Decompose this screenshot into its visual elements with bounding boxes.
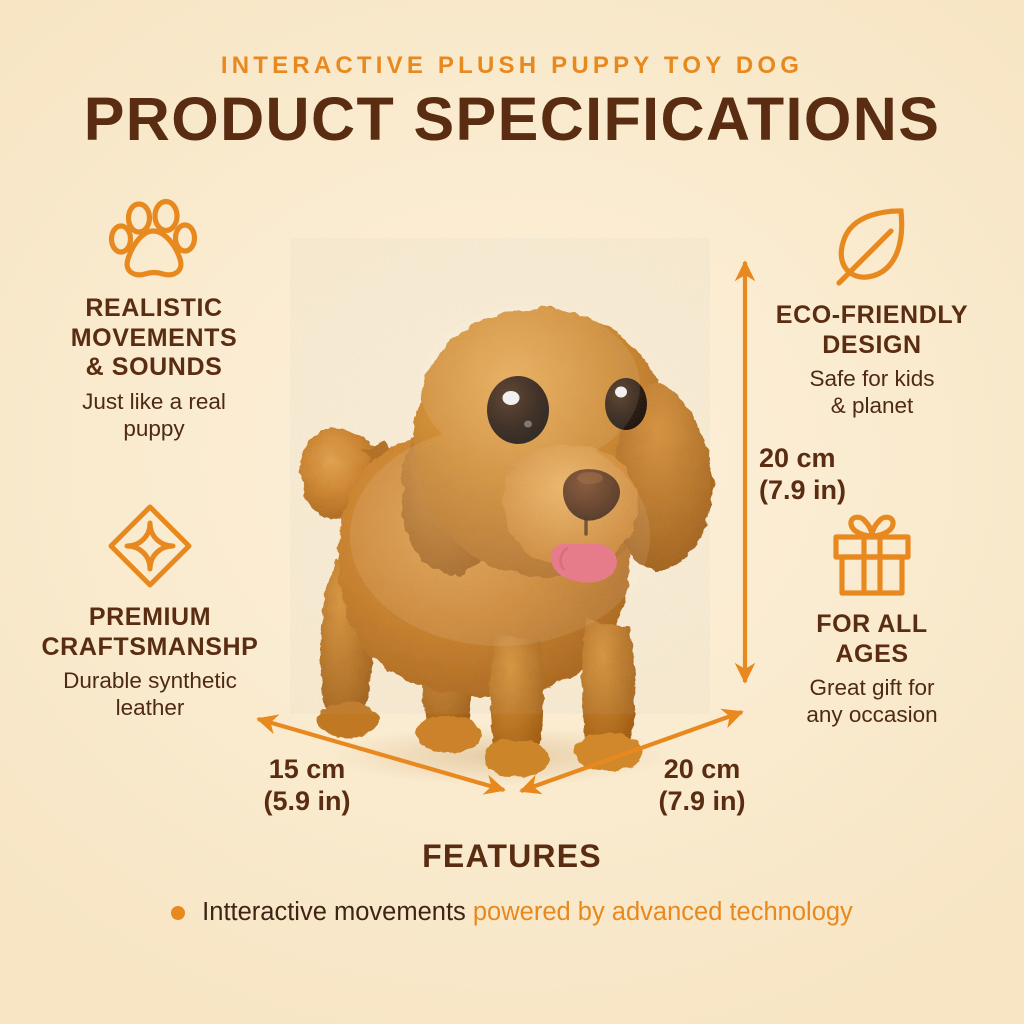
feature-title: FOR ALL AGES <box>727 610 1017 669</box>
feature-title: REALISTIC MOVEMENTS & SOUNDS <box>9 294 299 383</box>
feature-for-all-ages[interactable]: FOR ALL AGES Great gift for any occasion <box>727 512 1017 729</box>
feature-subtitle: Safe for kids & planet <box>727 365 1017 420</box>
height-dimension-label: 20 cm (7.9 in) <box>759 442 846 507</box>
page-title: PRODUCT SPECIFICATIONS <box>0 87 1024 153</box>
bullet-highlight-text: powered by advanced technology <box>473 898 853 926</box>
product-image-puppy <box>268 236 748 806</box>
feature-title: PREMIUM CRAFTSMANSHP <box>5 603 295 662</box>
feature-subtitle: Just like a real puppy <box>9 388 299 443</box>
feature-eco-friendly-design[interactable]: ECO-FRIENDLY DESIGN Safe for kids & plan… <box>727 203 1017 420</box>
width-dimension-label: 15 cm (5.9 in) <box>232 753 382 818</box>
eyebrow-subtitle: INTERACTIVE PLUSH PUPPY TOY DOG <box>0 52 1024 80</box>
gift-box-icon <box>727 512 1017 596</box>
feature-bullet-row: Intteractive movements powered by advanc… <box>0 898 1024 927</box>
paw-print-icon <box>9 196 299 280</box>
diamond-star-icon <box>5 505 295 589</box>
feature-subtitle: Durable synthetic leather <box>5 667 295 722</box>
features-heading: FEATURES <box>0 838 1024 875</box>
feature-title: ECO-FRIENDLY DESIGN <box>727 301 1017 360</box>
feature-premium-craftsmanship[interactable]: PREMIUM CRAFTSMANSHP Durable synthetic l… <box>5 505 295 722</box>
depth-dimension-label: 20 cm (7.9 in) <box>627 753 777 818</box>
bullet-plain-text: Intteractive movements <box>202 898 466 926</box>
bullet-dot-icon <box>171 906 185 920</box>
feature-subtitle: Great gift for any occasion <box>727 674 1017 729</box>
feature-realistic-movements[interactable]: REALISTIC MOVEMENTS & SOUNDS Just like a… <box>9 196 299 442</box>
infographic-canvas: INTERACTIVE PLUSH PUPPY TOY DOG PRODUCT … <box>0 0 1024 1024</box>
feature-bullet-text: Intteractive movements powered by advanc… <box>202 898 853 927</box>
leaf-icon <box>727 203 1017 287</box>
